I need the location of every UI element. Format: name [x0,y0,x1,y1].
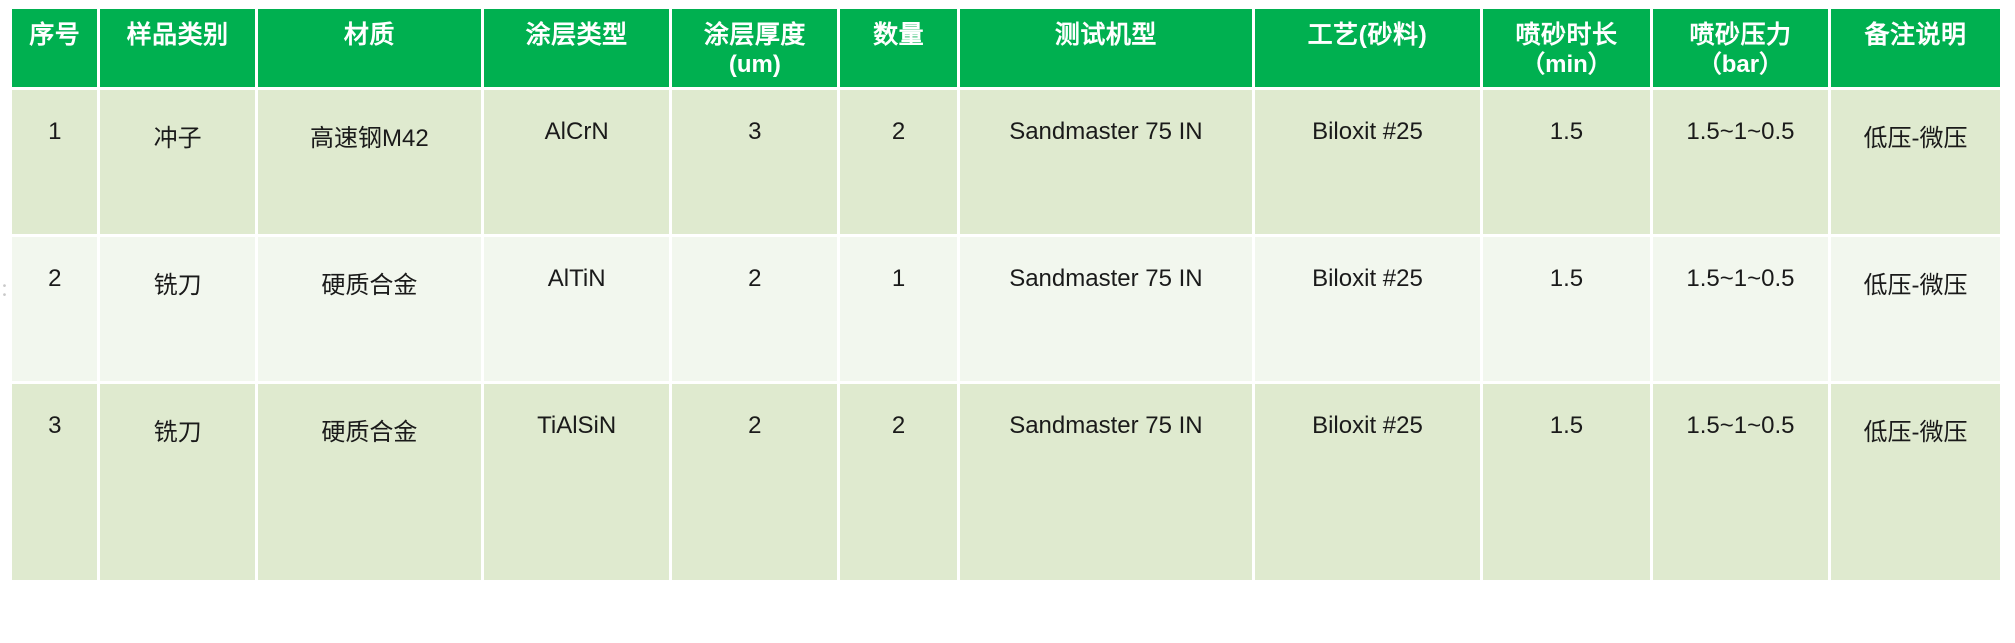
cell-no[interactable]: 2 [12,237,97,381]
column-header-blast-time-unit: （min） [1485,51,1648,79]
table-header: 序号 样品类别 材质 涂层类型 涂层厚度 (um) 数量 [12,9,2000,87]
cell-process-media[interactable]: Biloxit #25 [1255,384,1480,580]
column-header-blast-pressure[interactable]: 喷砂压力 （bar） [1653,9,1828,87]
cell-test-machine[interactable]: Sandmaster 75 IN [960,384,1252,580]
column-header-quantity-label: 数量 [873,21,924,49]
cell-remark[interactable]: 低压-微压 [1831,237,2000,381]
cell-coating-thickness[interactable]: 3 [672,90,837,234]
column-header-remark[interactable]: 备注说明 [1831,9,2000,87]
cell-blast-time[interactable]: 1.5 [1483,384,1650,580]
cell-blast-time[interactable]: 1.5 [1483,237,1650,381]
column-header-blast-pressure-label: 喷砂压力 [1689,21,1791,49]
table-row[interactable]: 1 冲子 高速钢M42 AlCrN 3 2 Sandmaster 75 IN B… [12,90,2000,234]
cell-blast-time[interactable]: 1.5 [1483,90,1650,234]
column-header-blast-time[interactable]: 喷砂时长 （min） [1483,9,1650,87]
cell-process-media[interactable]: Biloxit #25 [1255,90,1480,234]
table-row[interactable]: 2 铣刀 硬质合金 AlTiN 2 1 Sandmaster 75 IN Bil… [12,237,2000,381]
column-header-material-label: 材质 [344,21,395,49]
column-header-sample-category[interactable]: 样品类别 [100,9,254,87]
cell-quantity[interactable]: 2 [840,384,957,580]
column-header-coating-thickness-unit: (um) [674,51,835,79]
column-header-test-machine[interactable]: 测试机型 [960,9,1252,87]
cell-material[interactable]: 硬质合金 [258,384,481,580]
cell-material[interactable]: 硬质合金 [258,237,481,381]
cell-sample-category[interactable]: 铣刀 [100,384,254,580]
cell-sample-category[interactable]: 冲子 [100,90,254,234]
cell-coating-type[interactable]: TiAlSiN [484,384,670,580]
column-header-quantity[interactable]: 数量 [840,9,957,87]
column-header-blast-pressure-unit: （bar） [1655,51,1826,79]
column-header-process-media-label: 工艺(砂料) [1308,21,1428,49]
cell-sample-category[interactable]: 铣刀 [100,237,254,381]
column-header-process-media[interactable]: 工艺(砂料) [1255,9,1480,87]
table-body: 1 冲子 高速钢M42 AlCrN 3 2 Sandmaster 75 IN B… [12,90,2000,580]
cell-quantity[interactable]: 1 [840,237,957,381]
column-header-coating-type[interactable]: 涂层类型 [484,9,670,87]
cell-coating-thickness[interactable]: 2 [672,237,837,381]
column-header-no-label: 序号 [29,21,80,49]
column-header-no[interactable]: 序号 [12,9,97,87]
cell-blast-pressure[interactable]: 1.5~1~0.5 [1653,237,1828,381]
cell-blast-pressure[interactable]: 1.5~1~0.5 [1653,90,1828,234]
column-header-coating-thickness[interactable]: 涂层厚度 (um) [672,9,837,87]
cell-remark[interactable]: 低压-微压 [1831,90,2000,234]
column-header-remark-label: 备注说明 [1865,21,1967,49]
cell-blast-pressure[interactable]: 1.5~1~0.5 [1653,384,1828,580]
sample-specification-table: 序号 样品类别 材质 涂层类型 涂层厚度 (um) 数量 [9,6,2003,583]
cell-material[interactable]: 高速钢M42 [258,90,481,234]
column-header-test-machine-label: 测试机型 [1055,21,1157,49]
cell-test-machine[interactable]: Sandmaster 75 IN [960,237,1252,381]
column-header-sample-category-label: 样品类别 [127,21,229,49]
column-header-material[interactable]: 材质 [258,9,481,87]
table-row[interactable]: 3 铣刀 硬质合金 TiAlSiN 2 2 Sandmaster 75 IN B… [12,384,2000,580]
cell-coating-type[interactable]: AlTiN [484,237,670,381]
column-header-blast-time-label: 喷砂时长 [1515,21,1617,49]
left-edge-artifact: ： [0,282,8,316]
column-header-coating-type-label: 涂层类型 [526,21,628,49]
cell-remark[interactable]: 低压-微压 [1831,384,2000,580]
cell-coating-type[interactable]: AlCrN [484,90,670,234]
cell-no[interactable]: 1 [12,90,97,234]
cell-no[interactable]: 3 [12,384,97,580]
header-row: 序号 样品类别 材质 涂层类型 涂层厚度 (um) 数量 [12,9,2000,87]
cell-process-media[interactable]: Biloxit #25 [1255,237,1480,381]
cell-test-machine[interactable]: Sandmaster 75 IN [960,90,1252,234]
column-header-coating-thickness-label: 涂层厚度 [704,21,806,49]
cell-quantity[interactable]: 2 [840,90,957,234]
spreadsheet-canvas: ： 序号 样品类别 材质 [0,6,2015,643]
cell-coating-thickness[interactable]: 2 [672,384,837,580]
